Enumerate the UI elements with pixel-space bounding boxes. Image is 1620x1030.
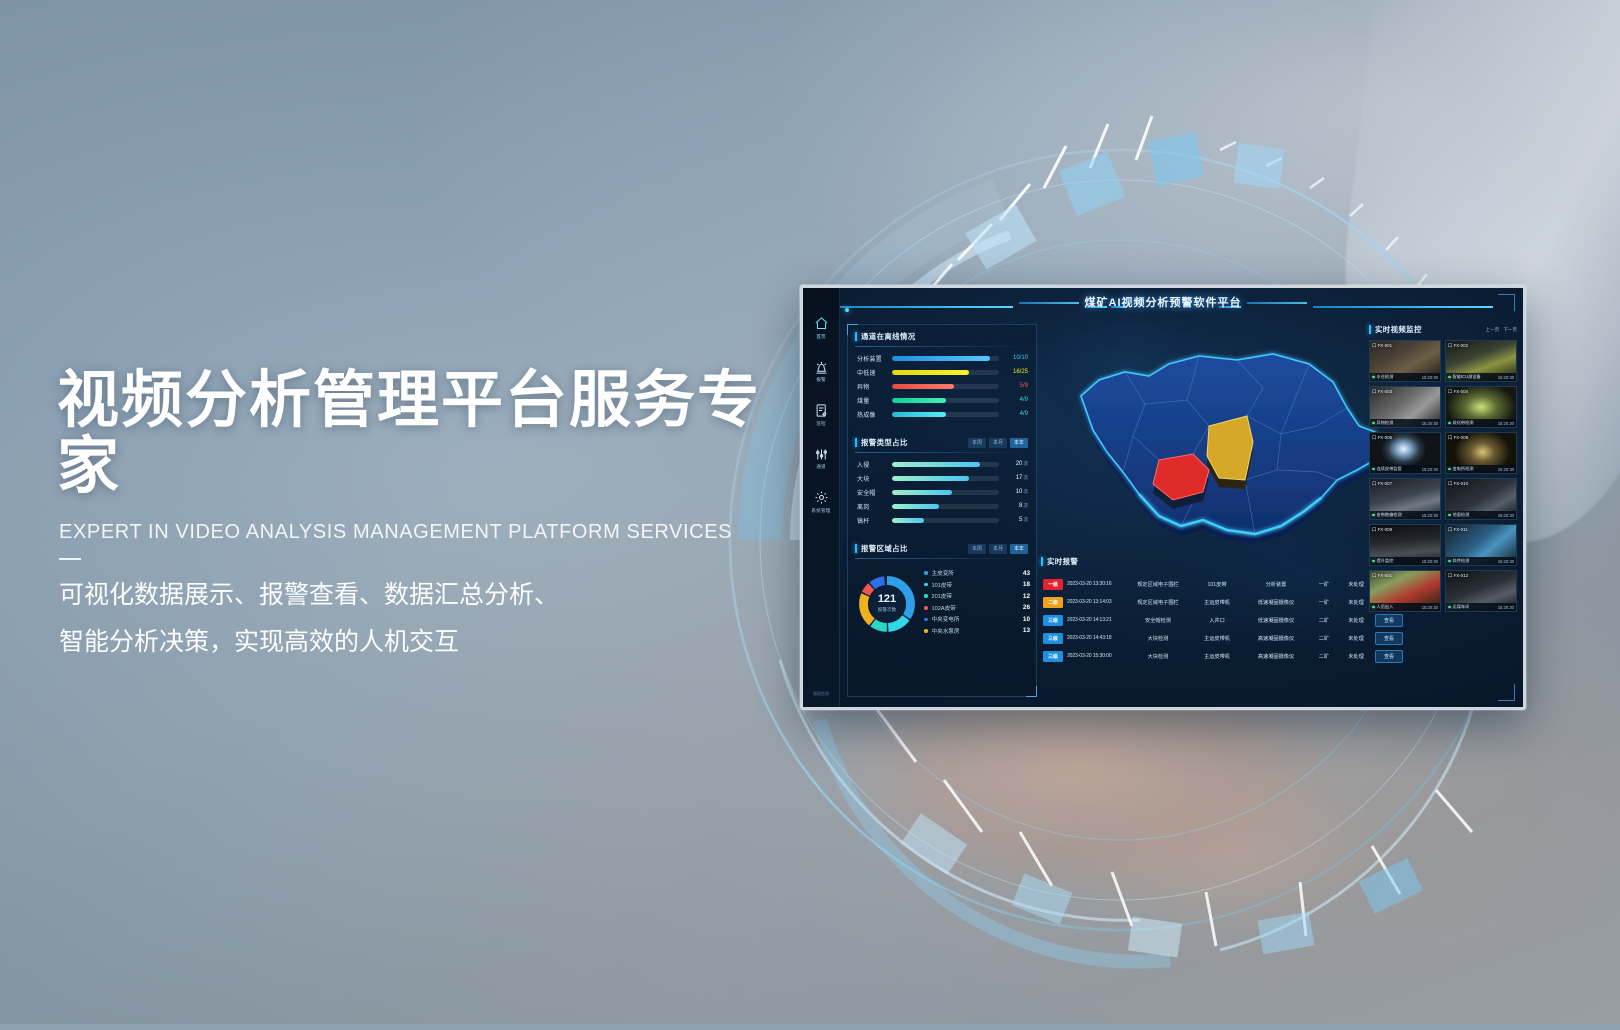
- table-row[interactable]: 一级 2023-03-20 13:30:16 规定区域电子围栏 101皮带 分析…: [1041, 575, 1367, 593]
- video-tile[interactable]: 口 FX-001 水仓检测 15:20:30: [1369, 340, 1441, 382]
- alarm-type-track: [892, 476, 999, 481]
- home-icon: [814, 316, 829, 331]
- camera-name: 连续皮带监管: [1377, 466, 1420, 472]
- legend-value: 43: [1023, 570, 1030, 577]
- legend-item: 101皮带 18: [924, 581, 1030, 589]
- alert-location: 主运皮带机: [1193, 653, 1241, 660]
- sidebar-item-inspection[interactable]: 巡检: [803, 403, 839, 427]
- channel-row-label: 中低速: [857, 368, 887, 377]
- alert-time: 2023-03-20 14:13:21: [1067, 617, 1123, 623]
- alarm-type-unit: 次: [1023, 489, 1028, 494]
- legend-item: 中央变电所 10: [924, 615, 1030, 623]
- alerts-rows: 一级 2023-03-20 13:30:16 规定区域电子围栏 101皮带 分析…: [1041, 575, 1367, 665]
- alarm-type-track: [892, 490, 999, 495]
- alert-mine: 二矿: [1311, 617, 1337, 624]
- donut-legend: 主皮变所 43 101皮带 18 201皮带 12: [924, 569, 1030, 639]
- hero-line-1: 可视化数据展示、报警查看、数据汇总分析、: [59, 572, 817, 618]
- status-dot-icon: [1448, 606, 1451, 609]
- camera-id: 口 FX-004: [1448, 389, 1468, 395]
- alarm-type-row: 镐杆 5次: [848, 513, 1036, 527]
- camera-name: 皮带跑偏检测: [1377, 512, 1420, 518]
- video-tile[interactable]: 口 FX-007 皮带跑偏检测 15:20:30: [1369, 478, 1441, 520]
- tab-year[interactable]: 本年: [1010, 438, 1028, 448]
- hero-divider: [59, 558, 81, 560]
- donut-center-value: 121: [878, 594, 896, 605]
- legend-label: 中央变电所: [932, 615, 1019, 623]
- status-dot-icon: [1448, 422, 1451, 425]
- camera-id: 口 FX-009: [1372, 527, 1392, 533]
- camera-id: 口 FX-011: [1448, 527, 1468, 533]
- alert-status: 未处理: [1341, 581, 1371, 588]
- alerts-panel-title: 实时报警: [1041, 556, 1367, 571]
- alerts-title-text: 实时报警: [1047, 556, 1078, 567]
- camera-name: 提升监控: [1377, 558, 1420, 564]
- video-tile-footer: 水仓检测 15:20:30: [1370, 373, 1440, 381]
- legend-dot: [924, 618, 928, 622]
- channel-row: 煤量 4/9: [848, 393, 1036, 407]
- legend-item: 主皮变所 43: [924, 569, 1030, 577]
- prev-page-button[interactable]: 上一页: [1485, 327, 1499, 333]
- legend-item: 201皮带 12: [924, 592, 1030, 600]
- camera-name: 斜井检测: [1453, 558, 1496, 564]
- legend-label: 主皮变所: [932, 569, 1019, 577]
- camera-name: 地面检测: [1453, 512, 1496, 518]
- video-panel-header: 实时视频监控 上一页 下一页: [1369, 324, 1517, 335]
- video-tile[interactable]: 口 FX-004 硫化带检测 15:20:30: [1445, 386, 1517, 428]
- video-pagination: 上一页 下一页: [1485, 327, 1517, 333]
- alarm-type-value: 8: [1019, 503, 1022, 509]
- legend-label: 中央水泵房: [932, 627, 1019, 635]
- dashboard-sidebar: 首页 报警: [803, 288, 840, 707]
- alarm-type-tabs: 本周 本月 本年: [968, 438, 1028, 448]
- legend-item: 102A皮带 26: [924, 604, 1030, 612]
- channel-icon: [814, 447, 829, 462]
- alert-type: 大块检测: [1127, 653, 1189, 660]
- status-badge: 三级: [1043, 633, 1063, 644]
- legend-dot: [924, 571, 928, 575]
- status-dot-icon: [1448, 376, 1451, 379]
- sidebar-item-inspection-label: 巡检: [816, 421, 826, 427]
- camera-time: 15:20:30: [1498, 513, 1514, 518]
- channel-row-label: 煤量: [857, 396, 887, 405]
- table-row[interactable]: 二级 2023-03-20 13:14:03 规定区域电子围栏 主运皮带机 低速…: [1041, 593, 1367, 611]
- camera-id: 口 FX-007: [1372, 481, 1392, 487]
- channel-row: 热成像 4/9: [848, 407, 1036, 421]
- alarm-type-value: 10: [1016, 489, 1023, 495]
- camera-time: 15:20:30: [1422, 513, 1438, 518]
- area-tab-year[interactable]: 本年: [1010, 544, 1028, 554]
- camera-time: 15:20:30: [1498, 421, 1514, 426]
- alarm-type-track: [892, 462, 999, 467]
- camera-time: 15:20:30: [1422, 421, 1438, 426]
- channel-panel-title-text: 通道在离线情况: [861, 331, 916, 342]
- tab-month[interactable]: 本月: [989, 438, 1007, 448]
- status-badge: 三级: [1043, 615, 1063, 626]
- area-tab-month[interactable]: 本月: [989, 544, 1007, 554]
- camera-time: 15:20:30: [1422, 467, 1438, 472]
- alarm-type-row: 离岗 8次: [848, 499, 1036, 513]
- alert-mine: 一矿: [1311, 581, 1337, 588]
- dashboard-title: 煤矿AI视频分析预警软件平台: [803, 294, 1523, 310]
- status-dot-icon: [1448, 514, 1451, 517]
- alarm-type-row: 安全帽 10次: [848, 485, 1036, 499]
- camera-id: 口 FX-003: [1372, 389, 1392, 395]
- legend-value: 12: [1023, 593, 1030, 600]
- camera-name: 硫化带检测: [1453, 420, 1496, 426]
- camera-name: 智能ICU测设备: [1453, 374, 1496, 380]
- channel-row: 中低速 16/25: [848, 365, 1036, 379]
- alert-status: 未处理: [1341, 617, 1371, 624]
- status-dot-icon: [1448, 560, 1451, 563]
- realtime-alerts-panel: 实时报警 一级 2023-03-20 13:30:16 规定区域电子围栏 101…: [1041, 556, 1367, 695]
- alert-type: 规定区域电子围栏: [1127, 599, 1189, 606]
- camera-time: 15:20:30: [1422, 375, 1438, 380]
- alert-device: 分析装置: [1245, 581, 1307, 588]
- alert-status: 未处理: [1341, 599, 1371, 606]
- legend-dot: [924, 629, 928, 633]
- alert-time: 2023-03-20 13:30:16: [1067, 581, 1123, 587]
- video-tile[interactable]: 口 FX-002 智能ICU测设备 15:20:30: [1445, 340, 1517, 382]
- alarm-area-chart: 121 报警次数 主皮变所 43 101皮带 18: [848, 563, 1036, 639]
- channel-rows: 分析装置 10/10 中低速 16/25 异物 5/9: [848, 351, 1036, 421]
- alarm-type-track: [892, 504, 999, 509]
- sidebar-nav: 首页 报警: [803, 316, 839, 534]
- alarm-area-tabs: 本周 本月 本年: [968, 544, 1028, 554]
- video-tile[interactable]: 口 FX-010 地面检测 15:20:30: [1445, 478, 1517, 520]
- legend-value: 13: [1023, 627, 1030, 634]
- province-map[interactable]: [1041, 330, 1416, 560]
- hero-line-2: 智能分析决策，实现高效的人机交互: [59, 619, 817, 665]
- video-tile[interactable]: 口 FX-006 连续皮带监管 15:20:30: [1369, 432, 1441, 474]
- camera-id: 口 FX-012: [1448, 573, 1468, 579]
- status-dot-icon: [1372, 468, 1375, 471]
- donut-center: 121 报警次数: [869, 586, 905, 622]
- sidebar-footer: 版权信息: [803, 691, 839, 697]
- alert-time: 2023-03-20 13:14:03: [1067, 599, 1123, 605]
- alarm-type-panel-title: 报警类型占比 本周 本月 本年: [848, 431, 1036, 452]
- alert-time: 2023-03-20 15:30:00: [1067, 653, 1123, 659]
- next-page-button[interactable]: 下一页: [1503, 327, 1517, 333]
- status-dot-icon: [1372, 422, 1375, 425]
- status-dot-icon: [1372, 606, 1375, 609]
- alert-status: 未处理: [1341, 635, 1371, 642]
- alert-type: 规定区域电子围栏: [1127, 581, 1189, 588]
- camera-id: 口 FX-001: [1372, 343, 1392, 349]
- alarm-type-panel: 报警类型占比 本周 本月 本年 入侵 20次 大块: [848, 431, 1036, 527]
- alarm-type-row: 入侵 20次: [848, 457, 1036, 471]
- status-dot-icon: [1372, 560, 1375, 563]
- alarm-type-title-text: 报警类型占比: [861, 437, 908, 448]
- video-tile-footer: 连续皮带监管 15:20:30: [1370, 465, 1440, 473]
- alert-mine: 一矿: [1311, 599, 1337, 606]
- status-badge: 一级: [1043, 579, 1063, 590]
- legend-label: 102A皮带: [932, 604, 1019, 612]
- alert-device: 高速凝固摄像仪: [1245, 653, 1307, 660]
- channel-row-track: [892, 398, 999, 403]
- channel-row-track: [892, 356, 999, 361]
- alarm-area-panel: 报警区域占比 本周 本月 本年: [848, 537, 1036, 639]
- legend-label: 201皮带: [932, 592, 1019, 600]
- camera-name: 水仓检测: [1377, 374, 1420, 380]
- alarm-type-unit: 次: [1023, 517, 1028, 522]
- video-tile[interactable]: 口 FX-008 变电所检测 15:20:30: [1445, 432, 1517, 474]
- video-grid: 口 FX-001 水仓检测 15:20:30 口 FX-002 智能ICU测设备…: [1369, 340, 1517, 612]
- status-dot-icon: [1372, 376, 1375, 379]
- alarm-type-rows: 入侵 20次 大块 17次 安全帽 10次 离: [848, 457, 1036, 527]
- video-tile-footer: 硫化带检测 15:20:30: [1446, 419, 1516, 427]
- camera-time: 15:20:30: [1498, 605, 1514, 610]
- channel-row-value: 16/25: [1004, 369, 1028, 375]
- alert-device: 低速凝固摄像仪: [1245, 617, 1307, 624]
- camera-name: 人员出入: [1377, 604, 1420, 610]
- camera-id: 口 FX-006: [1372, 435, 1392, 441]
- status-badge: 三级: [1043, 651, 1063, 662]
- dashboard-monitor: 煤矿AI视频分析预警软件平台 首页: [800, 285, 1526, 710]
- video-tile-footer: 运煤车间 15:20:30: [1446, 603, 1516, 611]
- alarm-type-unit: 次: [1023, 475, 1028, 480]
- inspection-icon: [814, 403, 829, 418]
- channel-row-track: [892, 370, 999, 375]
- channel-row-value: 5/9: [1004, 383, 1028, 389]
- alarm-type-track: [892, 518, 999, 523]
- alarm-type-label: 镐杆: [857, 516, 887, 525]
- video-tile[interactable]: 口 FX-601 人员出入 15:20:30: [1369, 570, 1441, 612]
- sidebar-item-alarm[interactable]: 报警: [803, 360, 839, 384]
- alert-status: 未处理: [1341, 653, 1371, 660]
- sidebar-item-alarm-label: 报警: [816, 377, 826, 383]
- channel-row: 异物 5/9: [848, 379, 1036, 393]
- dashboard-screen: 煤矿AI视频分析预警软件平台 首页: [803, 288, 1523, 707]
- hero-subtitle-en: EXPERT IN VIDEO ANALYSIS MANAGEMENT PLAT…: [59, 521, 817, 544]
- video-tile[interactable]: 口 FX-009 提升监控 15:20:30: [1369, 524, 1441, 566]
- camera-time: 15:20:30: [1422, 605, 1438, 610]
- video-panel-title: 实时视频监控: [1375, 324, 1422, 335]
- area-tab-week[interactable]: 本周: [968, 544, 986, 554]
- channel-row-value: 4/9: [1004, 397, 1028, 403]
- legend-value: 18: [1023, 581, 1030, 588]
- alarm-type-value: 5: [1019, 517, 1022, 523]
- sidebar-item-home[interactable]: 首页: [803, 316, 839, 340]
- alarm-type-value: 20: [1016, 461, 1023, 467]
- legend-value: 10: [1023, 616, 1030, 623]
- alert-location: 101皮带: [1193, 581, 1241, 588]
- alert-location: 主运皮带机: [1193, 599, 1241, 606]
- video-tile-footer: 皮带跑偏检测 15:20:30: [1370, 511, 1440, 519]
- sidebar-item-system-label: 系统管理: [811, 508, 830, 514]
- alarm-area-title-text: 报警区域占比: [861, 543, 908, 554]
- legend-label: 101皮带: [932, 581, 1019, 589]
- video-tile-footer: 斜井检测 15:20:30: [1446, 557, 1516, 565]
- camera-name: 变电所检测: [1453, 466, 1496, 472]
- sidebar-item-channel-label: 通道: [816, 464, 826, 470]
- video-tile[interactable]: 口 FX-012 运煤车间 15:20:30: [1445, 570, 1517, 612]
- donut-chart: 121 报警次数: [856, 573, 918, 635]
- gear-icon: [814, 490, 829, 505]
- video-tile[interactable]: 口 FX-011 斜井检测 15:20:30: [1445, 524, 1517, 566]
- sidebar-item-home-label: 首页: [816, 334, 826, 340]
- channel-row-track: [892, 412, 999, 417]
- dashboard-header: 煤矿AI视频分析预警软件平台: [803, 288, 1523, 318]
- channel-panel-title: 通道在离线情况: [848, 325, 1036, 346]
- channel-row-value: 4/9: [1004, 411, 1028, 417]
- left-panel-column: 通道在离线情况 分析装置 10/10 中低速 16/25 异物: [847, 324, 1037, 697]
- channel-row-track: [892, 384, 999, 389]
- camera-id: 口 FX-601: [1372, 573, 1392, 579]
- video-tile-footer: 异物检测 15:20:30: [1370, 419, 1440, 427]
- alarm-type-label: 安全帽: [857, 488, 887, 497]
- camera-time: 15:20:30: [1498, 559, 1514, 564]
- tab-week[interactable]: 本周: [968, 438, 986, 448]
- alarm-type-unit: 次: [1023, 503, 1028, 508]
- channel-row-label: 异物: [857, 382, 887, 391]
- status-dot-icon: [1372, 514, 1375, 517]
- page-title: 视频分析管理平台服务专家: [57, 368, 817, 499]
- camera-name: 异物检测: [1377, 420, 1420, 426]
- channel-row-label: 分析装置: [857, 354, 887, 363]
- alarm-type-value: 17: [1016, 475, 1023, 481]
- alert-mine: 二矿: [1311, 635, 1337, 642]
- video-tile-footer: 变电所检测 15:20:30: [1446, 465, 1516, 473]
- alarm-icon: [814, 360, 829, 375]
- camera-time: 15:20:30: [1498, 375, 1514, 380]
- alarm-type-label: 入侵: [857, 460, 887, 469]
- video-tile[interactable]: 口 FX-003 异物检测 15:20:30: [1369, 386, 1441, 428]
- video-tile-footer: 人员出入 15:20:30: [1370, 603, 1440, 611]
- camera-id: 口 FX-010: [1448, 481, 1468, 487]
- alarm-area-panel-title: 报警区域占比 本周 本月 本年: [848, 537, 1036, 558]
- camera-id: 口 FX-008: [1448, 435, 1468, 441]
- legend-dot: [924, 583, 928, 587]
- table-row[interactable]: 三级 2023-03-20 15:30:00 大块检测 主运皮带机 高速凝固摄像…: [1041, 647, 1367, 665]
- video-tile-footer: 地面检测 15:20:30: [1446, 511, 1516, 519]
- legend-dot: [924, 606, 928, 610]
- sidebar-item-system[interactable]: 系统管理: [803, 490, 839, 514]
- alert-type: 大块检测: [1127, 635, 1189, 642]
- video-monitor-panel: 实时视频监控 上一页 下一页 口 FX-001 水仓检测 15:20:30: [1369, 324, 1517, 697]
- status-dot-icon: [1448, 468, 1451, 471]
- camera-time: 15:20:30: [1498, 467, 1514, 472]
- video-tile-footer: 提升监控 15:20:30: [1370, 557, 1440, 565]
- alert-type: 安全帽检测: [1127, 617, 1189, 624]
- alert-mine: 二矿: [1311, 653, 1337, 660]
- alert-device: 低速凝固摄像仪: [1245, 599, 1307, 606]
- channel-row-value: 10/10: [1004, 355, 1028, 361]
- channel-row-label: 热成像: [857, 410, 887, 419]
- donut-center-label: 报警次数: [878, 607, 896, 613]
- status-badge: 二级: [1043, 597, 1063, 608]
- table-row[interactable]: 三级 2023-03-20 14:43:18 大块检测 主运皮带机 高速凝固摄像…: [1041, 629, 1367, 647]
- alarm-type-unit: 次: [1023, 461, 1028, 466]
- alarm-type-label: 离岗: [857, 502, 887, 511]
- camera-id: 口 FX-002: [1448, 343, 1468, 349]
- camera-name: 运煤车间: [1453, 604, 1496, 610]
- channel-row: 分析装置 10/10: [848, 351, 1036, 365]
- legend-value: 26: [1023, 604, 1030, 611]
- legend-item: 中央水泵房 13: [924, 627, 1030, 635]
- hero-copy: 视频分析管理平台服务专家 EXPERT IN VIDEO ANALYSIS MA…: [57, 368, 817, 665]
- alert-location: 入井口: [1193, 617, 1241, 624]
- alert-time: 2023-03-20 14:43:18: [1067, 635, 1123, 641]
- video-tile-footer: 智能ICU测设备 15:20:30: [1446, 373, 1516, 381]
- sidebar-item-channel[interactable]: 通道: [803, 447, 839, 471]
- channel-status-panel: 通道在离线情况 分析装置 10/10 中低速 16/25 异物: [848, 325, 1036, 421]
- legend-dot: [924, 594, 928, 598]
- alarm-type-label: 大块: [857, 474, 887, 483]
- alarm-type-row: 大块 17次: [848, 471, 1036, 485]
- alert-device: 高速凝固摄像仪: [1245, 635, 1307, 642]
- table-row[interactable]: 三级 2023-03-20 14:13:21 安全帽检测 入井口 低速凝固摄像仪…: [1041, 611, 1367, 629]
- alert-location: 主运皮带机: [1193, 635, 1241, 642]
- camera-time: 15:20:30: [1422, 559, 1438, 564]
